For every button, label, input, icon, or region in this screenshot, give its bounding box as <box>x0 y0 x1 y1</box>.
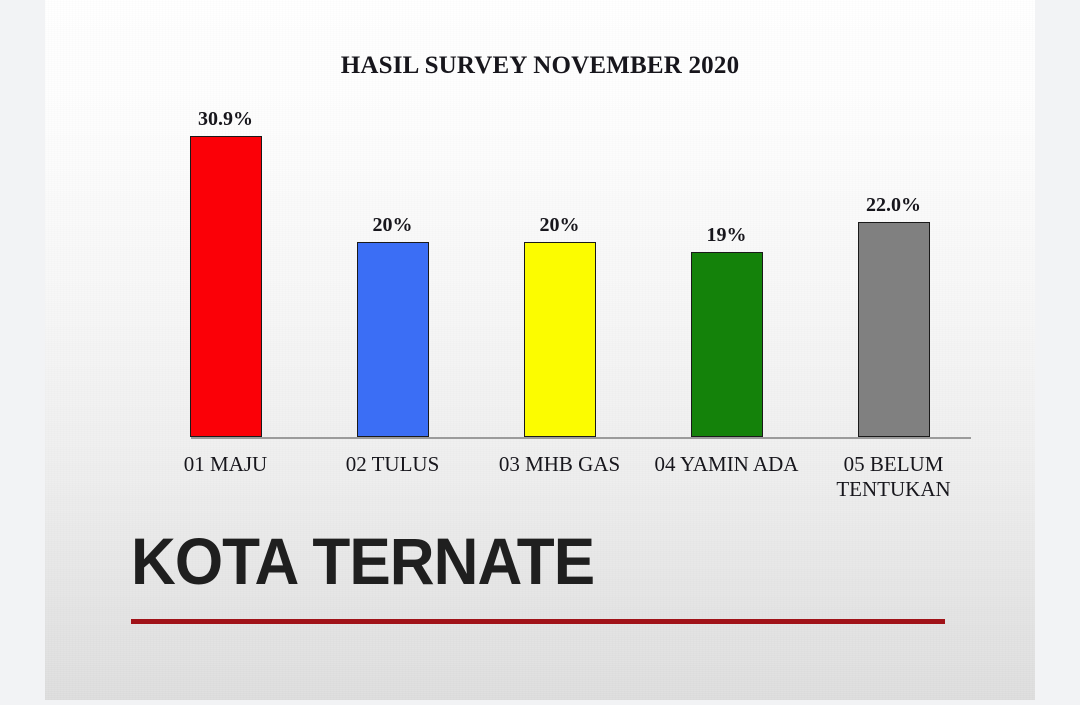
footer-heading: KOTA TERNATE <box>131 528 594 594</box>
bar-value-label: 20% <box>373 215 413 235</box>
category-axis-labels: 01 MAJU 02 TULUS 03 MHB GAS 04 YAMIN ADA… <box>142 452 977 502</box>
footer-divider-rule <box>131 619 945 624</box>
bar-group-03-mhb-gas: 20% <box>476 100 643 437</box>
bar-value-label: 22.0% <box>866 195 921 215</box>
bar-series: 30.9% 20% 20% 19% 22.0% <box>142 100 977 437</box>
bar-group-01-maju: 30.9% <box>142 100 309 437</box>
chart-title: HASIL SURVEY NOVEMBER 2020 <box>45 52 1035 80</box>
category-label-05-belum-tentukan: 05 BELUM TENTUKAN <box>810 452 977 502</box>
bar-rect-04-yamin-ada[interactable] <box>691 252 763 437</box>
category-label-02-tulus: 02 TULUS <box>309 452 476 502</box>
slide-canvas: HASIL SURVEY NOVEMBER 2020 30.9% 20% 20%… <box>45 0 1035 700</box>
category-axis-line <box>191 437 971 439</box>
bar-value-label: 19% <box>707 225 747 245</box>
category-label-04-yamin-ada: 04 YAMIN ADA <box>643 452 810 502</box>
category-label-03-mhb-gas: 03 MHB GAS <box>476 452 643 502</box>
bar-value-label: 20% <box>540 215 580 235</box>
bar-rect-02-tulus[interactable] <box>357 242 429 437</box>
bar-group-05-belum-tentukan: 22.0% <box>810 100 977 437</box>
bar-value-label: 30.9% <box>198 109 253 129</box>
bar-group-02-tulus: 20% <box>309 100 476 437</box>
bar-rect-01-maju[interactable] <box>190 136 262 437</box>
bar-rect-05-belum-tentukan[interactable] <box>858 222 930 437</box>
bar-chart-plot-area: 30.9% 20% 20% 19% 22.0% <box>142 100 977 445</box>
category-label-01-maju: 01 MAJU <box>142 452 309 502</box>
bar-rect-03-mhb-gas[interactable] <box>524 242 596 437</box>
bar-group-04-yamin-ada: 19% <box>643 100 810 437</box>
